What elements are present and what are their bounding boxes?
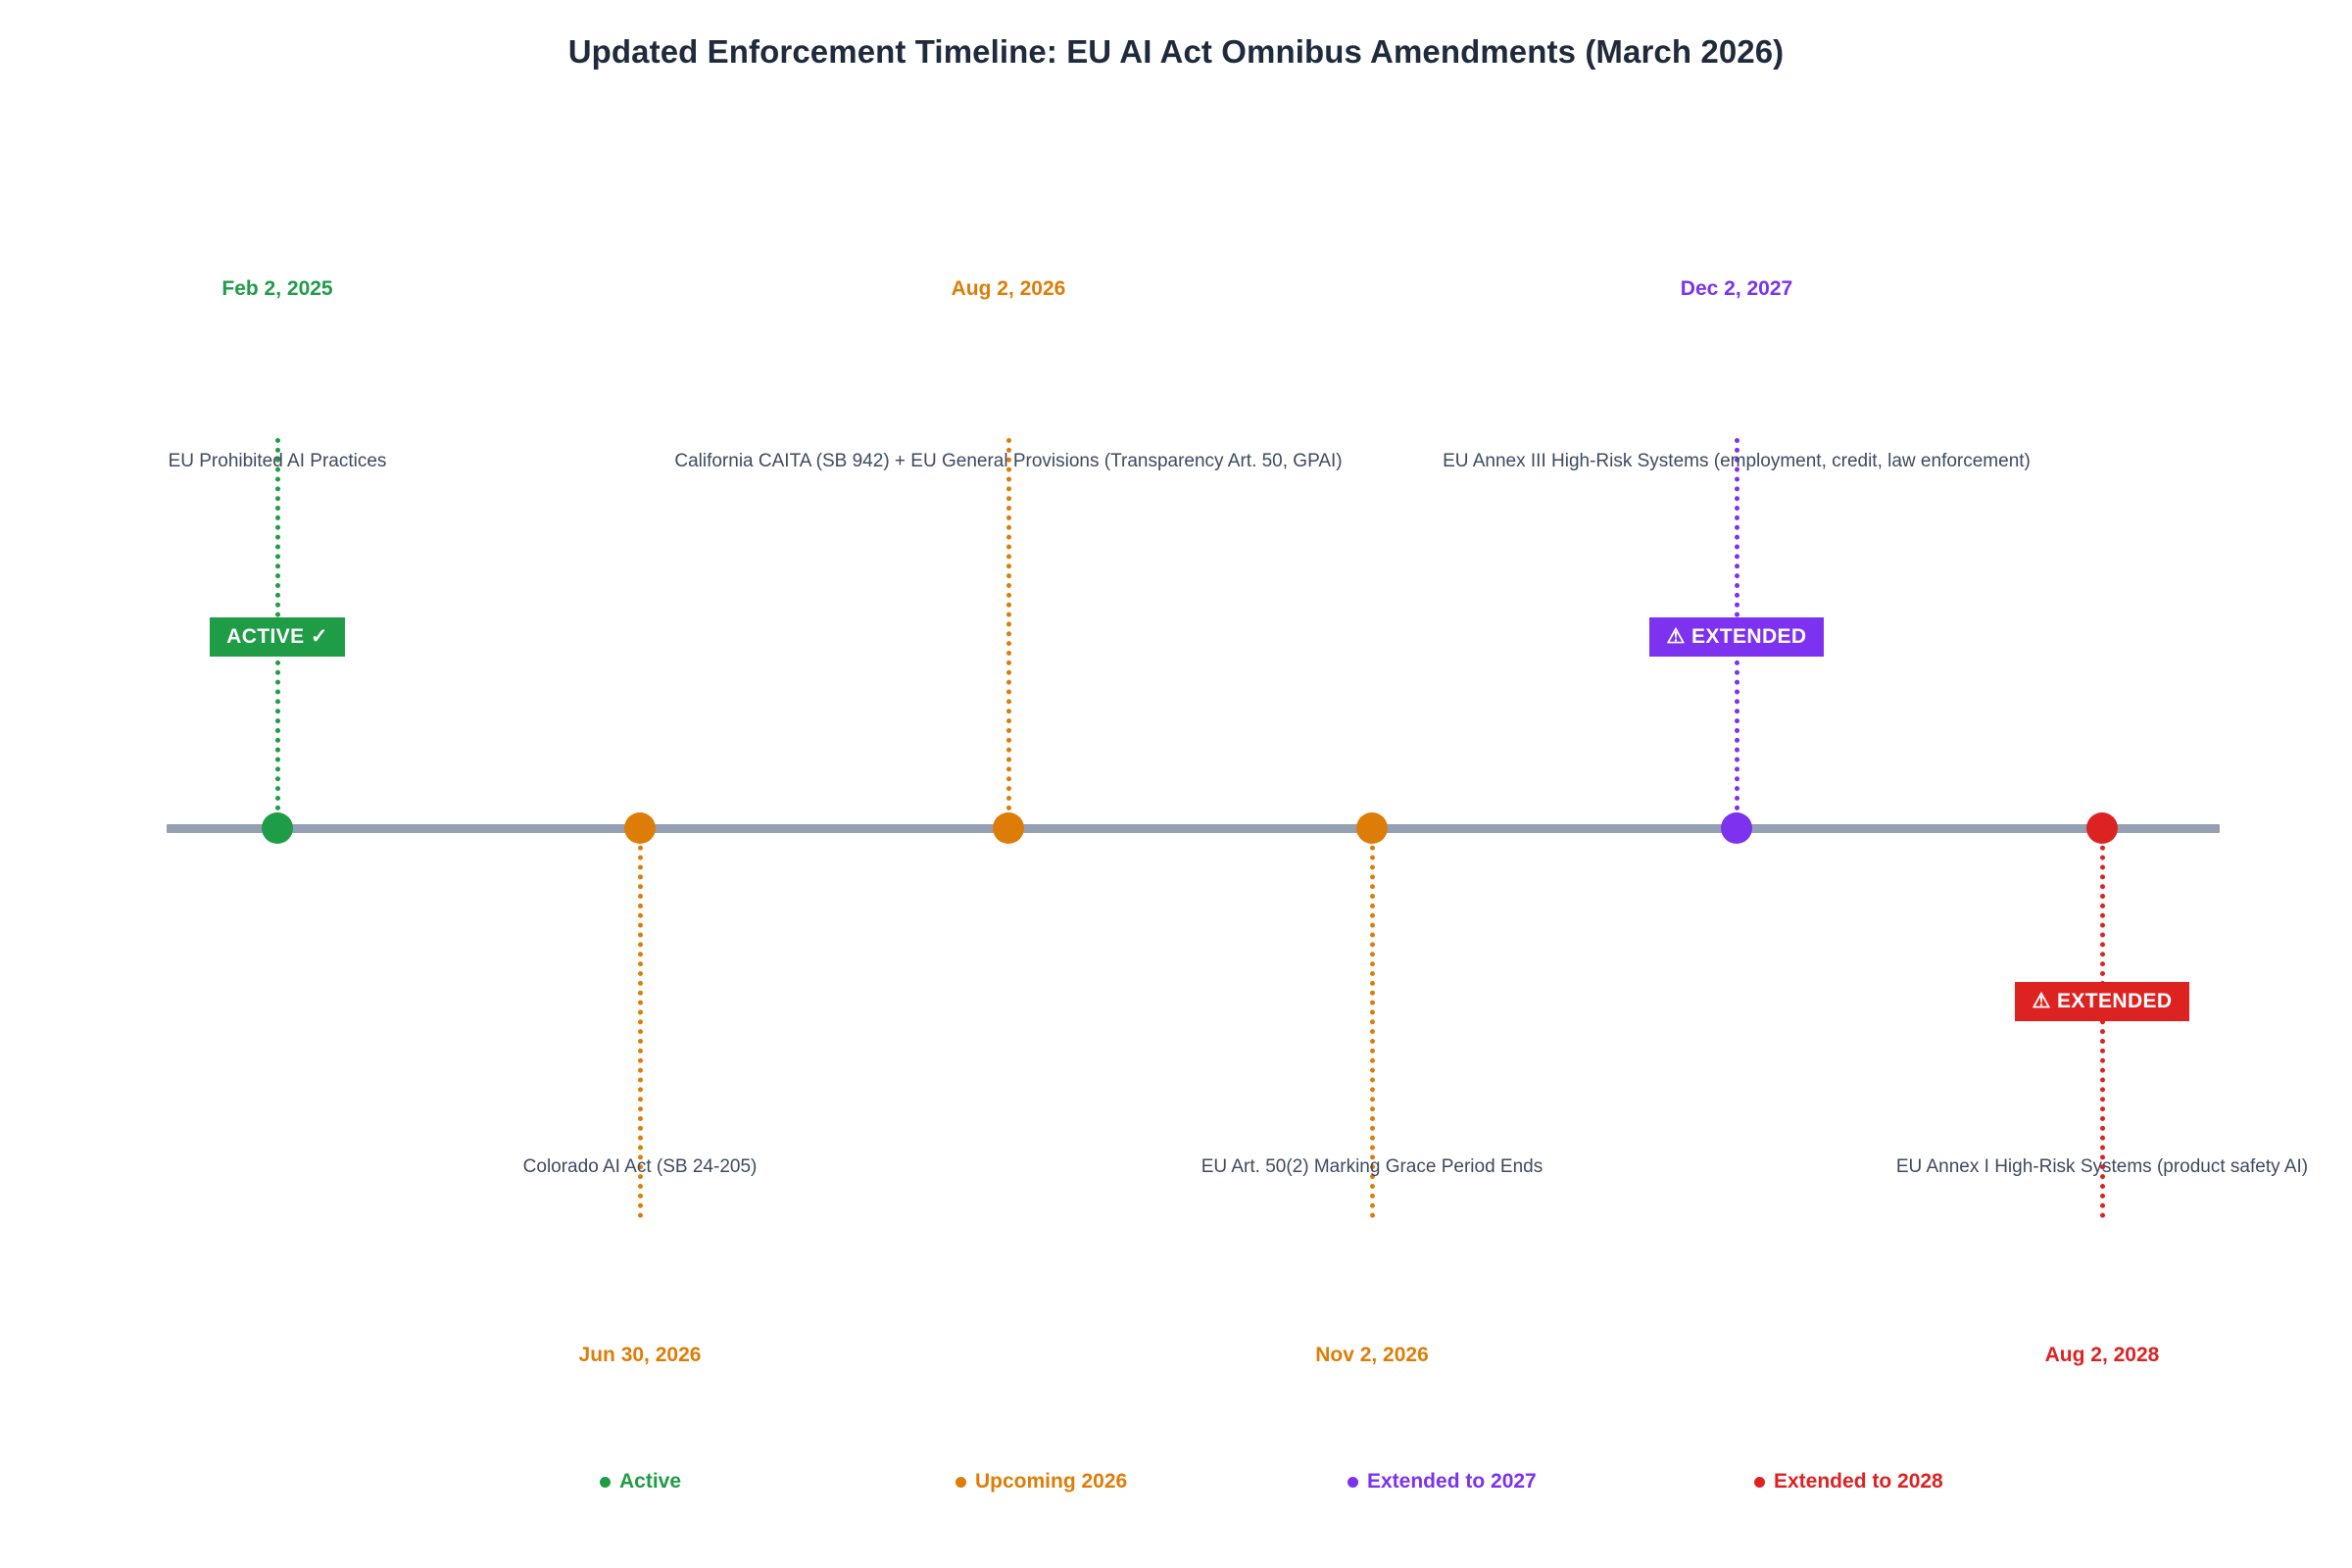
- legend-label: Active: [619, 1470, 681, 1494]
- event-date-label: Aug 2, 2026: [714, 277, 1302, 301]
- timeline-chart: Updated Enforcement Timeline: EU AI Act …: [0, 0, 2352, 1568]
- legend-dot-icon: [600, 1477, 611, 1488]
- status-badge-text: ACTIVE ✓: [210, 617, 345, 657]
- event-connector-line: [1006, 438, 1011, 830]
- status-badge: ⚠ EXTENDED: [1955, 982, 2249, 1021]
- status-badge-text: ⚠ EXTENDED: [2015, 982, 2188, 1021]
- status-badge: ACTIVE ✓: [130, 617, 424, 657]
- event-date-label: Dec 2, 2027: [1443, 277, 2031, 301]
- event-date-label: Nov 2, 2026: [1078, 1344, 1666, 1367]
- event-date-label: Jun 30, 2026: [346, 1344, 934, 1367]
- legend-dot-icon: [955, 1477, 966, 1488]
- event-marker-dot[interactable]: [1356, 812, 1388, 844]
- legend-label: Upcoming 2026: [975, 1470, 1127, 1494]
- event-date-label: Aug 2, 2028: [1808, 1344, 2352, 1367]
- legend-item[interactable]: Extended to 2028: [1754, 1470, 1943, 1494]
- event-description-label: EU Annex III High-Risk Systems (employme…: [1149, 451, 2325, 472]
- legend-item[interactable]: Active: [600, 1470, 681, 1494]
- legend-dot-icon: [1754, 1477, 1765, 1488]
- timeline-axis: [167, 824, 2220, 833]
- event-marker-dot[interactable]: [624, 812, 656, 844]
- status-badge-text: ⚠ EXTENDED: [1649, 617, 1823, 657]
- event-marker-dot[interactable]: [1721, 812, 1752, 844]
- legend-label: Extended to 2027: [1367, 1470, 1537, 1494]
- event-marker-dot[interactable]: [2086, 812, 2118, 844]
- status-badge: ⚠ EXTENDED: [1590, 617, 1884, 657]
- legend-item[interactable]: Extended to 2027: [1347, 1470, 1537, 1494]
- event-marker-dot[interactable]: [262, 812, 293, 844]
- event-marker-dot[interactable]: [993, 812, 1024, 844]
- page-title: Updated Enforcement Timeline: EU AI Act …: [0, 33, 2352, 71]
- event-description-label: EU Annex I High-Risk Systems (product sa…: [1514, 1156, 2352, 1178]
- legend-dot-icon: [1347, 1477, 1358, 1488]
- legend-item[interactable]: Upcoming 2026: [955, 1470, 1127, 1494]
- legend-label: Extended to 2028: [1774, 1470, 1943, 1494]
- event-date-label: Feb 2, 2025: [0, 277, 571, 301]
- legend: ActiveUpcoming 2026Extended to 2027Exten…: [0, 1470, 2352, 1509]
